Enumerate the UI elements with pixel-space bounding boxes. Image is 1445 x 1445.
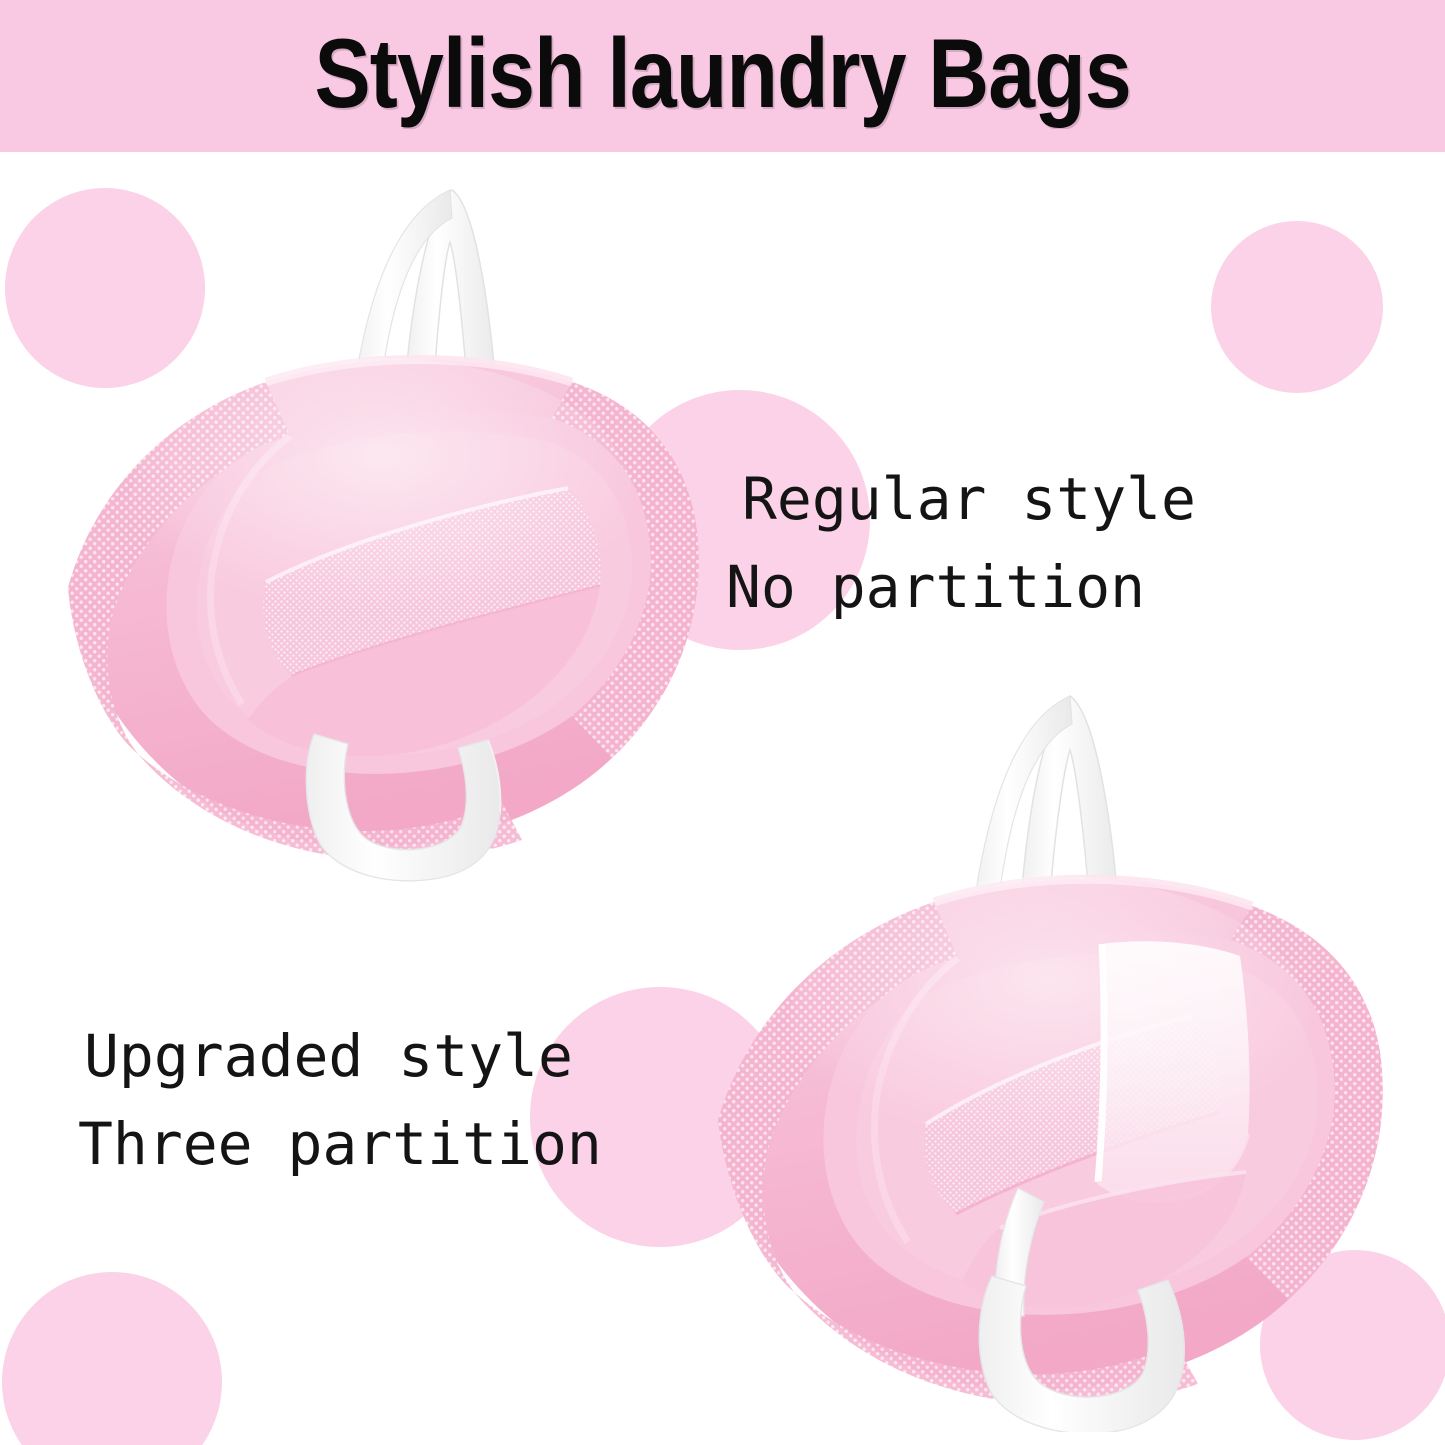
bag-body [68,358,699,861]
header-banner: Stylish laundry Bags [0,0,1445,152]
caption-regular-line-2: No partition [726,543,1196,631]
caption-regular-line-1: Regular style [742,455,1196,543]
product-image-regular-bag [52,168,712,888]
caption-upgraded-line-1: Upgraded style [84,1012,602,1100]
page-title: Stylish laundry Bags [314,24,1130,128]
caption-regular-style: Regular style No partition [742,455,1196,631]
caption-upgraded-line-2: Three partition [78,1100,602,1188]
dot-top-right [1211,221,1383,393]
caption-upgraded-style: Upgraded style Three partition [84,1012,602,1188]
dot-bottom-left [2,1272,222,1445]
product-image-upgraded-bag [700,672,1400,1432]
bag-body [718,876,1383,1405]
product-infographic: Regular style No partition [0,0,1445,1445]
